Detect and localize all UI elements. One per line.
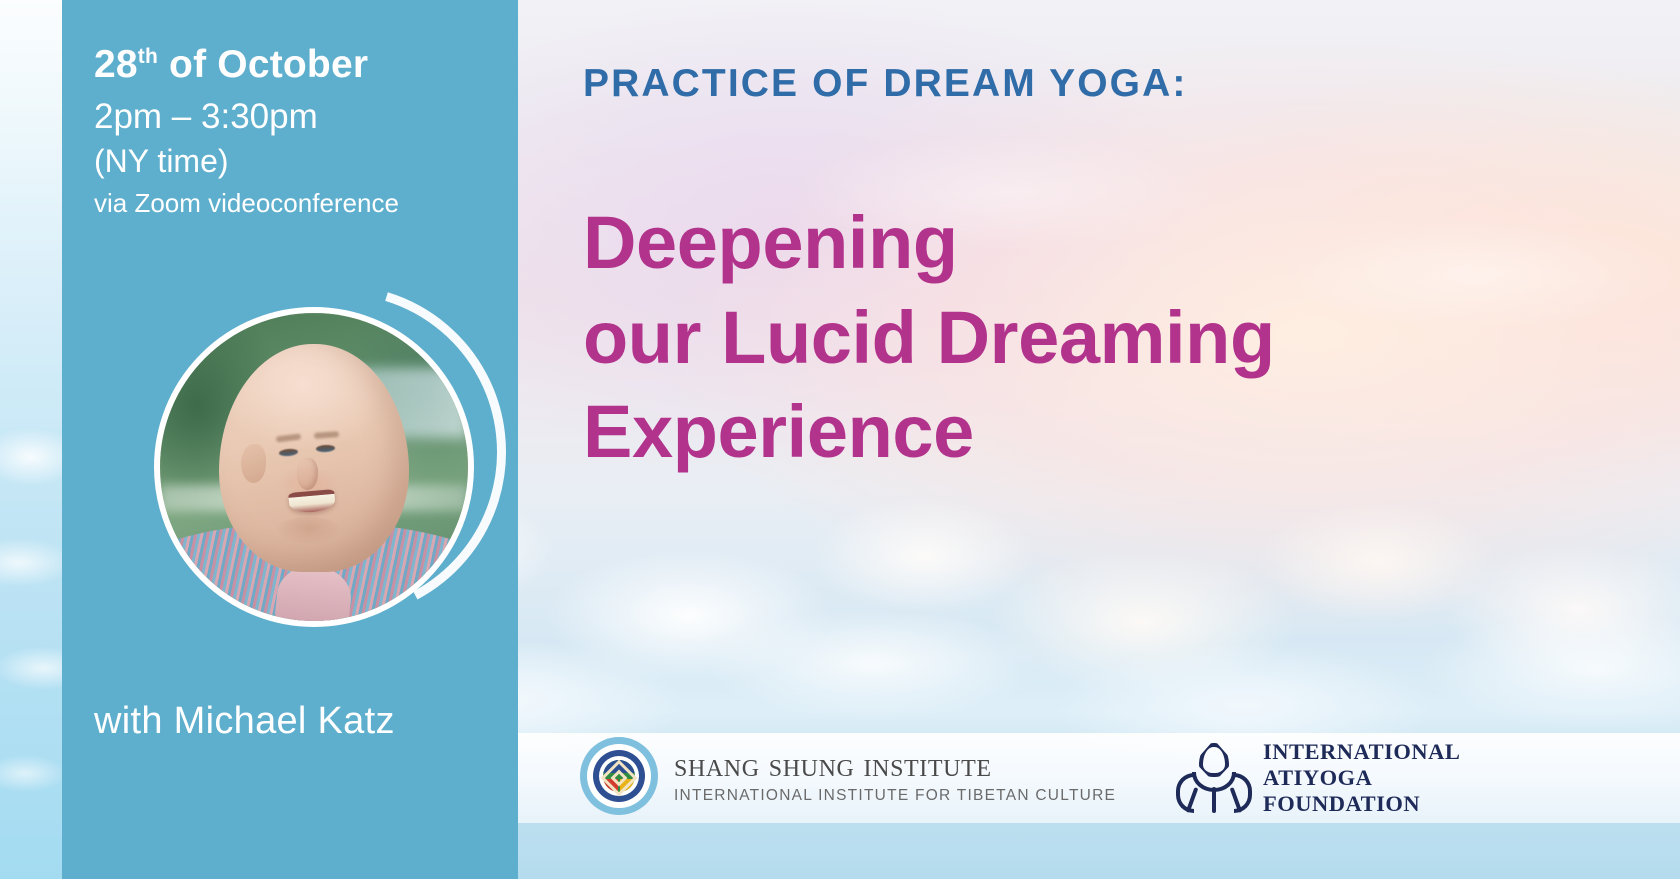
info-side-panel: 28th of October 2pm – 3:30pm (NY time) v… xyxy=(62,0,518,879)
series-eyebrow: PRACTICE OF DREAM YOGA: xyxy=(583,62,1187,106)
portrait-ear xyxy=(241,444,266,483)
atiyoga-wordmark: INTERNATIONAL ATIYOGA FOUNDATION xyxy=(1263,739,1460,817)
atiyoga-foundation-logo: INTERNATIONAL ATIYOGA FOUNDATION xyxy=(1180,739,1460,817)
portrait-nose xyxy=(297,458,318,490)
vessel-arc-right xyxy=(1234,773,1252,813)
portrait-smile xyxy=(288,489,335,513)
event-platform: via Zoom videoconference xyxy=(94,187,506,220)
event-date-month: of October xyxy=(158,43,368,86)
portrait-photo xyxy=(154,307,474,627)
portrait-chin-shadow xyxy=(276,517,341,544)
atiyoga-vessel-icon xyxy=(1180,743,1248,813)
portrait-brow-right xyxy=(314,431,339,439)
shang-shung-institute-logo: Shang Shung Institute INTERNATIONAL INST… xyxy=(580,737,1116,815)
event-date: 28th of October xyxy=(94,45,506,86)
event-date-ordinal: th xyxy=(138,45,158,68)
event-time: 2pm – 3:30pm xyxy=(94,95,506,140)
portrait-eye-left xyxy=(278,448,298,457)
atiyoga-line-2: ATIYOGA xyxy=(1263,765,1460,791)
presenter-name: with Michael Katz xyxy=(94,700,506,743)
portrait-eye-right xyxy=(316,445,335,453)
shang-shung-tagline: INTERNATIONAL INSTITUTE FOR TIBETAN CULT… xyxy=(674,787,1116,805)
vessel-legs xyxy=(1189,785,1239,813)
atiyoga-line-1: INTERNATIONAL xyxy=(1263,739,1460,765)
event-timezone: (NY time) xyxy=(94,142,506,181)
event-date-day: 28 xyxy=(94,43,138,86)
shang-shung-wordmark: Shang Shung Institute INTERNATIONAL INST… xyxy=(674,747,1116,805)
vessel-arc-left xyxy=(1176,773,1194,813)
page-title: Deepening our Lucid Dreaming Experience xyxy=(583,196,1275,480)
headline-line-2: our Lucid Dreaming xyxy=(583,291,1275,386)
sponsor-logo-bar: Shang Shung Institute INTERNATIONAL INST… xyxy=(518,733,1680,823)
left-sky-strip xyxy=(0,0,62,879)
event-poster: 28th of October 2pm – 3:30pm (NY time) v… xyxy=(0,0,1680,879)
portrait-brow-left xyxy=(276,433,301,442)
headline-line-3: Experience xyxy=(583,385,1275,480)
mandala-icon xyxy=(580,737,658,815)
presenter-portrait xyxy=(154,285,506,645)
headline-line-1: Deepening xyxy=(583,196,1275,291)
atiyoga-line-3: FOUNDATION xyxy=(1263,791,1460,817)
shang-shung-name: Shang Shung Institute xyxy=(674,747,1116,785)
event-datetime-block: 28th of October 2pm – 3:30pm (NY time) v… xyxy=(94,45,506,219)
